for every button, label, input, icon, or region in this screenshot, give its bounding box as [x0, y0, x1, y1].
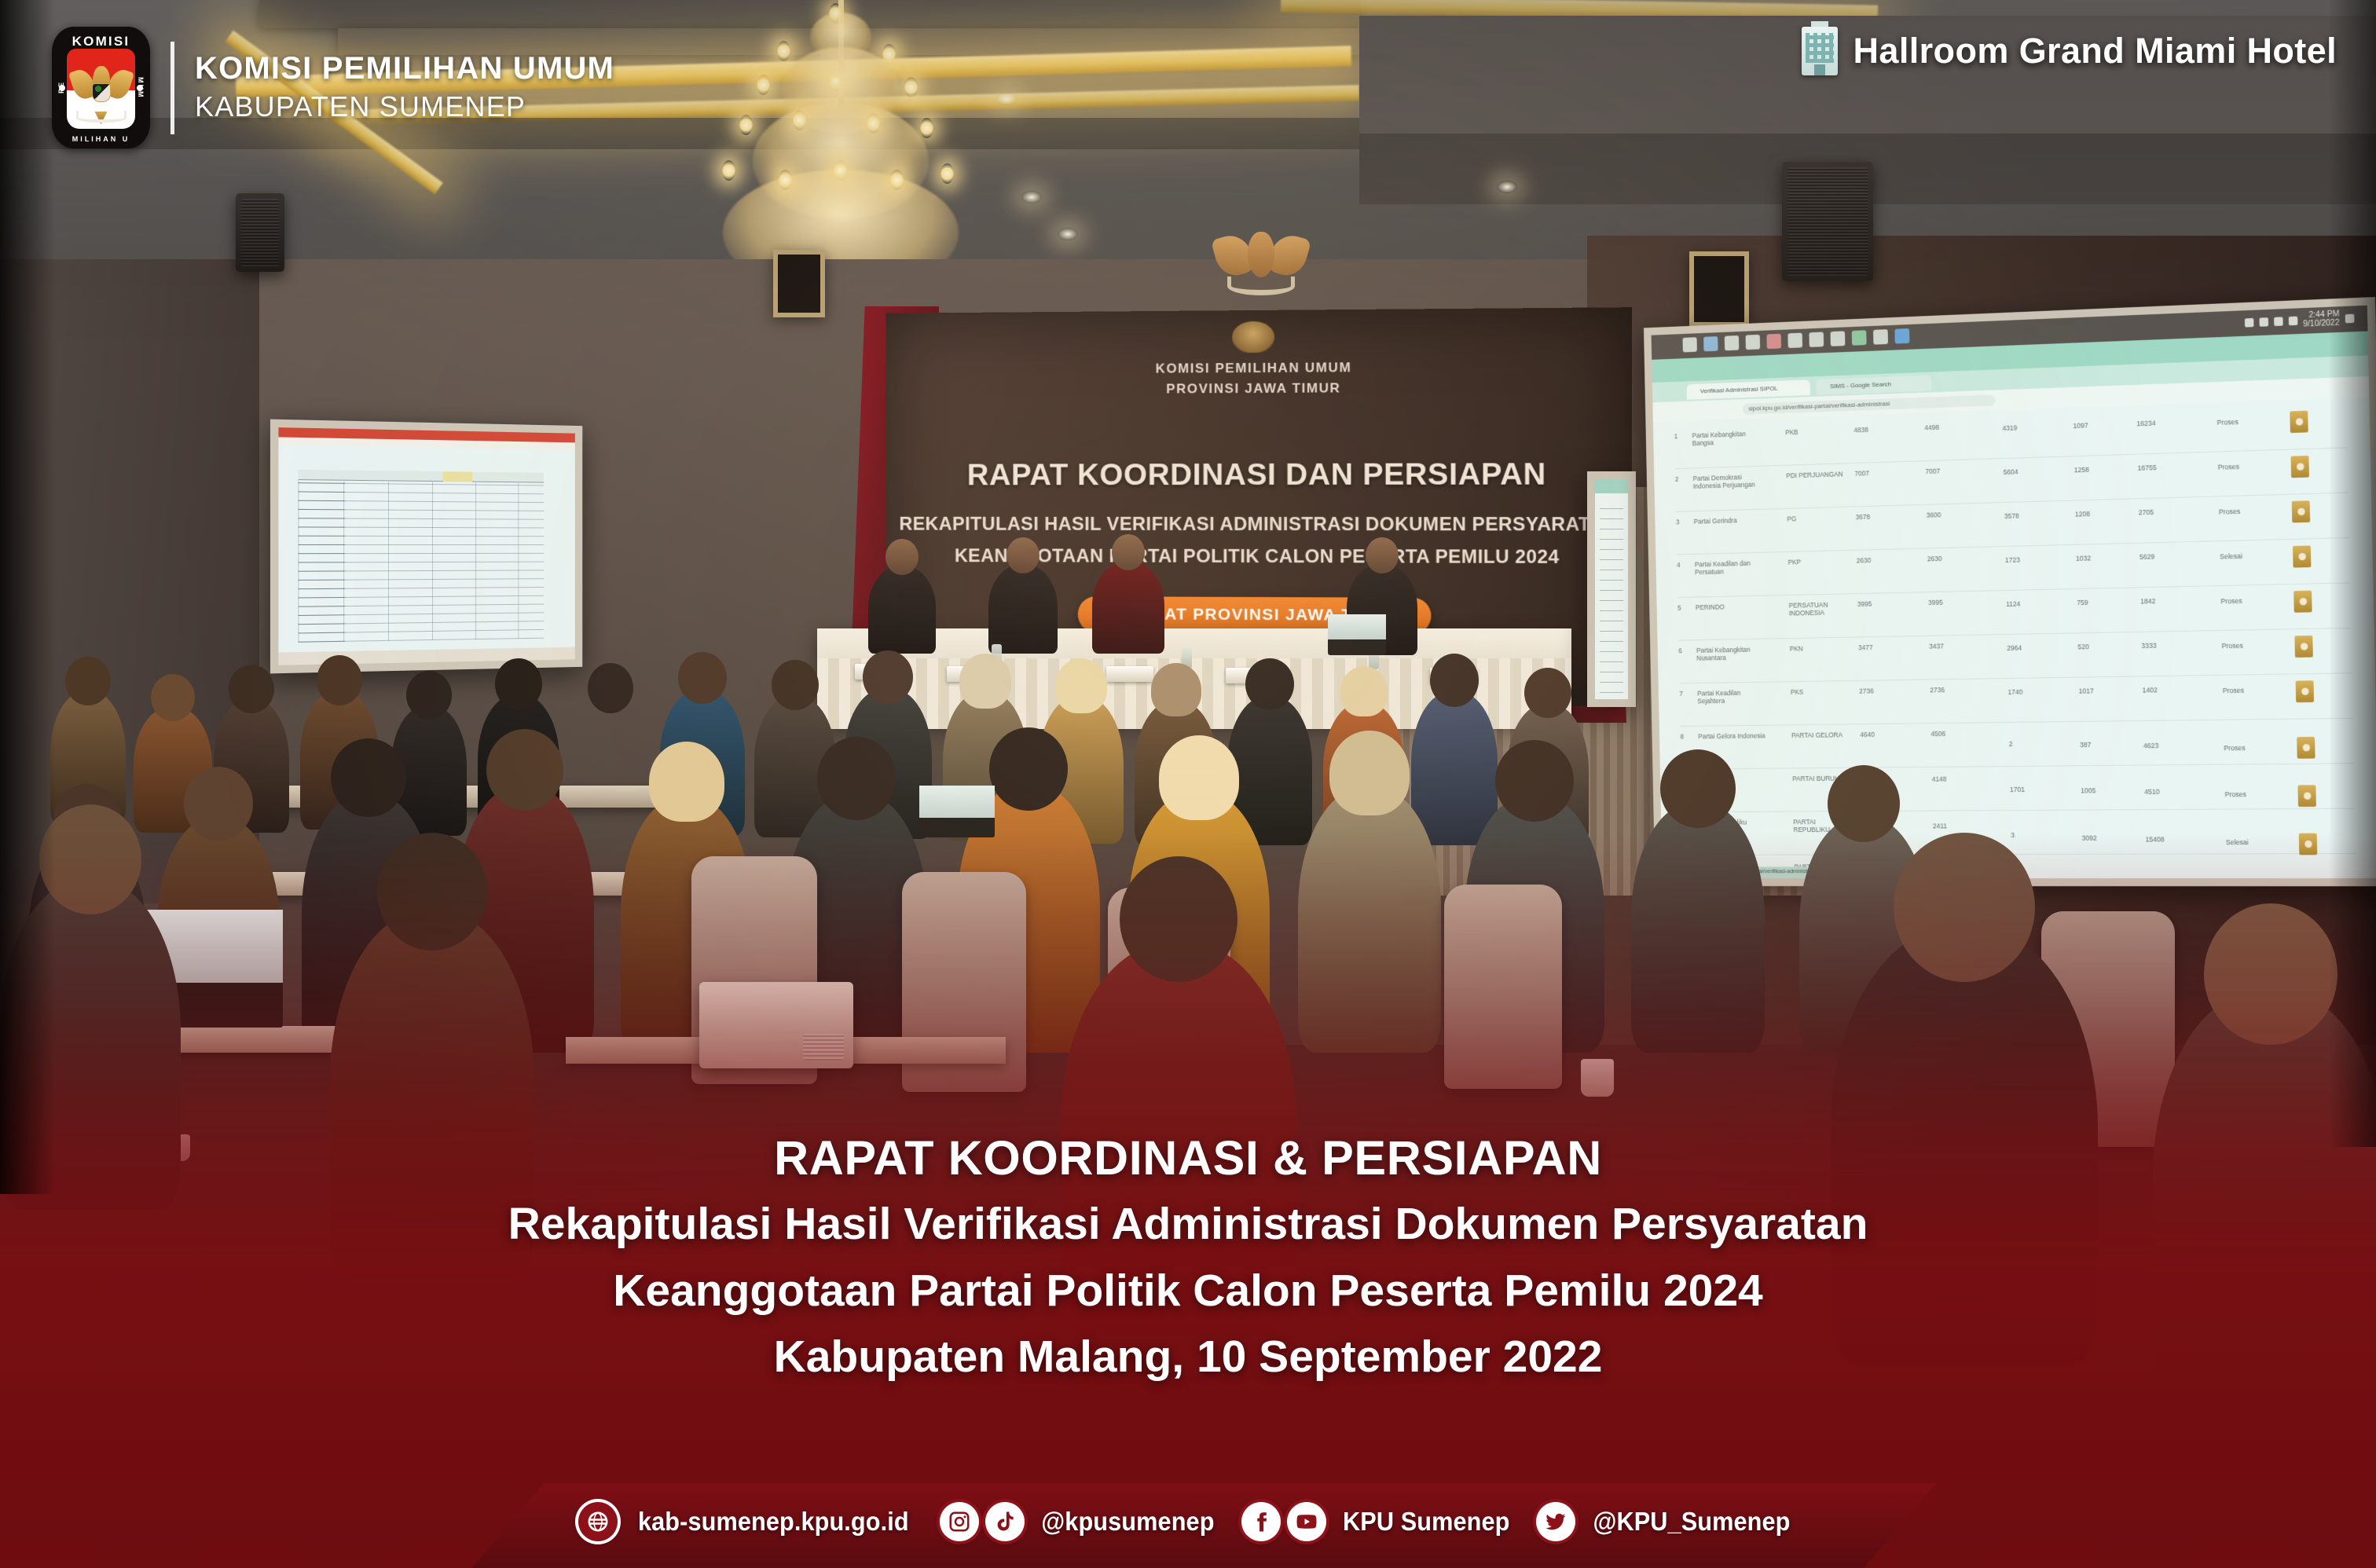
cell-singkatan: PERSATUAN INDONESIA: [1789, 600, 1844, 617]
twitter-icon[interactable]: [1536, 1502, 1575, 1541]
cell-c3: 1740: [2007, 688, 2022, 696]
app-icon: [1787, 333, 1802, 348]
social-icon-group: [1241, 1502, 1326, 1541]
cell-c5: 4623: [2143, 742, 2158, 749]
chrome-icon: [1894, 328, 1909, 344]
footer-page-label: KPU Sumenep: [1343, 1507, 1509, 1537]
volume-icon: [2274, 317, 2283, 326]
cell-c2: 2411: [1933, 822, 1947, 830]
header-line-1: KOMISI PEMILIHAN UMUM: [195, 49, 614, 88]
cell-no: 6: [1678, 647, 1682, 654]
table-row: 7 Partai Keadilan Sejahtera PKS 2736 273…: [1679, 673, 2353, 727]
cell-c4: 1032: [2076, 554, 2091, 562]
attendee: [1631, 803, 1765, 1053]
title-line-1: RAPAT KOORDINASI & PERSIAPAN: [0, 1131, 2376, 1185]
cell-c5: 1842: [2140, 597, 2155, 606]
header-line-2: KABUPATEN SUMENEP: [195, 88, 614, 126]
cell-c1: 2630: [1857, 556, 1872, 564]
cell-c2: 7007: [1925, 467, 1940, 476]
nameplate: [1106, 666, 1153, 682]
cell-c2: 4506: [1930, 730, 1945, 738]
footer-social-links: kab-sumenep.kpu.go.id @kpusumenep: [0, 1475, 2376, 1568]
poster-canvas: KOMISI PEMILIHAN UMUM PROVINSI JAWA TIMU…: [0, 0, 2376, 1568]
facebook-icon[interactable]: [1241, 1502, 1281, 1541]
row-action-badge[interactable]: [2293, 591, 2312, 613]
cell-c5: 4510: [2144, 788, 2159, 796]
row-action-badge[interactable]: [2293, 545, 2311, 567]
cell-c3: 5604: [2004, 467, 2018, 476]
browser-tab-2[interactable]: SIMS - Google Search: [1816, 376, 1931, 395]
cell-c5: 16234: [2136, 419, 2155, 427]
cell-c5: 5629: [2139, 552, 2154, 561]
row-action-badge[interactable]: [2296, 680, 2314, 702]
cell-status: Proses: [2216, 418, 2238, 427]
table-row: 8 Partai Gelora Indonesia PARTAI GELORA …: [1680, 719, 2354, 770]
cell-status: Proses: [2221, 642, 2242, 650]
excel-icon: [1852, 330, 1867, 346]
ceiling-spotlight: [996, 93, 1017, 105]
cup: [1581, 1059, 1614, 1097]
projection-screen-left: [270, 419, 582, 674]
ceiling-spotlight: [1497, 181, 1517, 193]
cell-partai: Partai Gelora Indonesia: [1698, 731, 1767, 740]
panelist: [988, 564, 1058, 654]
youtube-icon[interactable]: [1287, 1502, 1326, 1541]
cell-c4: 520: [2077, 643, 2089, 650]
cell-singkatan: PDI PERJUANGAN: [1786, 470, 1844, 479]
cell-c4: 3092: [2081, 834, 2096, 842]
start-icon: [1682, 337, 1696, 352]
cell-no: 2: [1675, 475, 1679, 483]
cell-c3: 2964: [2007, 644, 2022, 652]
cell-no: 1: [1674, 432, 1678, 440]
footer: kab-sumenep.kpu.go.id @kpusumenep: [0, 1475, 2376, 1568]
cell-singkatan: PKN: [1790, 645, 1803, 653]
title-line-3: Keanggotaan Partai Politik Calon Peserta…: [0, 1264, 2376, 1317]
cell-partai: Partai Gerindra: [1694, 516, 1737, 525]
cell-no: 7: [1679, 690, 1683, 698]
framed-picture: [1689, 251, 1749, 327]
cell-status: Proses: [2224, 790, 2246, 798]
chevron-up-icon: [2244, 317, 2253, 327]
cell-c2: 3437: [1929, 642, 1944, 650]
cell-c1: 2736: [1859, 687, 1874, 694]
cell-c3: 3578: [2004, 512, 2019, 521]
cell-singkatan: PARTAI GELORA: [1791, 731, 1842, 739]
kpu-logo: KOMISI PE MUM MILIHAN U: [52, 27, 150, 148]
cell-status: Selesai: [2226, 838, 2249, 846]
tiktok-icon[interactable]: [985, 1502, 1025, 1541]
cell-no: 4: [1677, 561, 1681, 569]
panelist: [1092, 561, 1164, 654]
cell-c5: 16755: [2137, 463, 2156, 472]
cell-c4: 1017: [2078, 687, 2093, 694]
row-action-badge[interactable]: [2294, 636, 2312, 658]
banner-subtitle-line1: REKAPITULASI HASIL VERIFIKASI ADMINISTRA…: [885, 510, 1632, 541]
cell-singkatan: PKB: [1785, 428, 1798, 436]
cell-c1: 4838: [1853, 426, 1868, 434]
laptop: [1328, 614, 1386, 655]
logo-ring-bottom: MILIHAN U: [52, 135, 150, 143]
notifications-icon: [2345, 313, 2355, 323]
cell-c3: 1723: [2005, 556, 2020, 564]
footer-item-website[interactable]: kab-sumenep.kpu.go.id: [578, 1502, 919, 1541]
cell-no: 5: [1677, 604, 1681, 612]
garuda-emblem-wall: [1214, 224, 1308, 299]
app-icon: [1873, 329, 1888, 345]
cell-partai: Partai Keadilan Sejahtera: [1697, 688, 1766, 705]
cell-singkatan: PKS: [1791, 688, 1804, 696]
cell-singkatan: PG: [1787, 515, 1796, 522]
row-action-badge[interactable]: [2292, 500, 2310, 522]
framed-picture: [773, 250, 825, 317]
projector: [699, 982, 853, 1068]
attendee: [1298, 787, 1441, 1053]
banner-subtitle-line2: KEANGGOTAAN PARTAI POLITIK CALON PESERTA…: [885, 541, 1632, 573]
cell-c5: 2705: [2139, 508, 2154, 517]
footer-handle-label: @kpusumenep: [1041, 1507, 1214, 1537]
building-icon: [1802, 27, 1838, 75]
instagram-icon[interactable]: [940, 1502, 979, 1541]
table-row: 10 Partai Republiku Indonesia PARTAI REP…: [1681, 809, 2356, 855]
banner-kpu-mark: [1232, 321, 1274, 353]
app-icon: [1809, 332, 1824, 347]
cell-c5: 15408: [2145, 835, 2164, 843]
cell-status: Selesai: [2220, 552, 2242, 561]
cell-c4: 1097: [2073, 421, 2088, 430]
taskbar-icon-group: [1682, 328, 1909, 352]
title-line-4: Kabupaten Malang, 10 September 2022: [0, 1330, 2376, 1383]
cell-c4: 1258: [2074, 466, 2089, 474]
cell-c3: 4319: [2002, 423, 2017, 432]
cell-c3: 2: [2009, 740, 2013, 748]
cell-c2: 4498: [1924, 423, 1939, 432]
cell-status: Proses: [2220, 597, 2242, 606]
cell-c2: 3600: [1927, 511, 1941, 518]
footer-item-page[interactable]: KPU Sumenep: [1241, 1502, 1516, 1541]
row-action-badge[interactable]: [2290, 411, 2308, 433]
cell-c1: 7007: [1854, 469, 1869, 477]
cell-c5: 1402: [2142, 686, 2157, 694]
venue-badge: Hallroom Grand Miami Hotel: [1802, 27, 2337, 75]
network-icon: [2259, 317, 2268, 327]
cell-c3: 1124: [2006, 600, 2020, 608]
panelist: [868, 566, 936, 654]
row-action-badge[interactable]: [2291, 456, 2309, 478]
cell-singkatan: PARTAI BURUH: [1792, 775, 1839, 782]
app-icon: [1831, 331, 1846, 346]
cell-singkatan: PKP: [1787, 558, 1801, 566]
logo-dot-left: [59, 85, 65, 91]
cell-c2: 3995: [1928, 599, 1943, 606]
row-action-badge[interactable]: [2299, 833, 2317, 855]
main-title-block: RAPAT KOORDINASI & PERSIAPAN Rekapitulas…: [0, 1131, 2376, 1383]
globe-icon[interactable]: [578, 1502, 618, 1541]
cell-c4: 1005: [2081, 786, 2095, 794]
cell-c4: 1208: [2075, 510, 2090, 518]
cell-partai: Partai Keadilan dan Persatuan: [1695, 559, 1764, 577]
cell-c1: 4640: [1860, 731, 1875, 738]
footer-item-twitter[interactable]: @KPU_Sumenep: [1536, 1502, 1798, 1541]
cell-no: 3: [1676, 518, 1680, 526]
footer-twitter-label: @KPU_Sumenep: [1593, 1507, 1790, 1537]
cell-partai: Partai Kebangkitan Bangsa: [1692, 430, 1761, 448]
banner-title: RAPAT KOORDINASI DAN PERSIAPAN: [885, 457, 1632, 493]
cell-status: Proses: [2219, 507, 2240, 516]
row-action-badge[interactable]: [2297, 785, 2315, 807]
cell-c1: 3678: [1856, 513, 1871, 521]
battery-icon: [2288, 316, 2297, 325]
cell-c2: 2630: [1927, 555, 1942, 562]
social-icon-group: [940, 1502, 1025, 1541]
projection-screen-small: [1587, 471, 1636, 707]
header-divider: [170, 42, 174, 134]
logo-dot-right: [137, 85, 143, 91]
venue-label: Hallroom Grand Miami Hotel: [1853, 31, 2337, 71]
title-line-2: Rekapitulasi Hasil Verifikasi Administra…: [0, 1197, 2376, 1251]
cell-c3: 1701: [2010, 786, 2025, 793]
header: KOMISI PE MUM MILIHAN U KOMISI PEMILIHAN…: [52, 27, 614, 148]
explorer-icon: [1746, 335, 1761, 350]
cell-c3: 3: [2011, 831, 2015, 839]
attendee: [1411, 691, 1498, 845]
logo-shield: [67, 49, 135, 129]
cell-status: Proses: [2218, 463, 2239, 471]
banner-org-line2: PROVINSI JAWA TIMUR: [885, 377, 1632, 401]
footer-website-label: kab-sumenep.kpu.go.id: [638, 1507, 909, 1537]
cell-status: Proses: [2224, 744, 2245, 752]
footer-item-social-handle[interactable]: @kpusumenep: [940, 1502, 1221, 1541]
laptop: [919, 786, 995, 837]
logo-ribbon: [76, 111, 126, 123]
projected-desktop: 2:44 PM 9/10/2022 Verifikasi Administras…: [1652, 306, 2376, 879]
app-icon: [1766, 334, 1781, 349]
attendee: [570, 699, 651, 836]
chair: [1444, 885, 1562, 1089]
cell-c4: 387: [2080, 741, 2092, 749]
cell-c2: 4148: [1932, 775, 1947, 783]
cell-partai: PERINDO: [1696, 603, 1725, 612]
cell-c4: 759: [2077, 599, 2088, 606]
cell-partai: Partai Kebangkitan Nusantara: [1696, 645, 1765, 661]
cell-c2: 2736: [1930, 686, 1945, 694]
search-icon: [1703, 336, 1718, 351]
ceiling-spotlight: [1021, 191, 1042, 203]
browser-page-content: 1 Partai Kebangkitan Bangsa PKB 4838 449…: [1653, 397, 2376, 879]
cell-no: 8: [1680, 733, 1684, 741]
loudspeaker: [1782, 162, 1873, 281]
task-view-icon: [1725, 335, 1740, 350]
cell-partai: Partai Demokrasi Indonesia Perjuangan: [1693, 473, 1762, 490]
row-action-badge[interactable]: [2297, 737, 2315, 759]
system-tray: 2:44 PM 9/10/2022: [2244, 310, 2354, 332]
cell-c1: 3995: [1857, 600, 1872, 608]
header-text: KOMISI PEMILIHAN UMUM KABUPATEN SUMENEP: [195, 49, 614, 126]
table-row: 9 Partai Buruh PARTAI BURUH 4148 4148 17…: [1681, 764, 2355, 812]
loudspeaker: [236, 193, 284, 272]
cell-status: Proses: [2223, 687, 2244, 695]
ceiling-spotlight: [1058, 228, 1078, 240]
taskbar-clock: 2:44 PM 9/10/2022: [2303, 310, 2340, 328]
projection-screen-right: 2:44 PM 9/10/2022 Verifikasi Administras…: [1644, 297, 2376, 886]
cell-c1: 3477: [1858, 643, 1873, 651]
cell-c5: 3333: [2141, 642, 2156, 650]
